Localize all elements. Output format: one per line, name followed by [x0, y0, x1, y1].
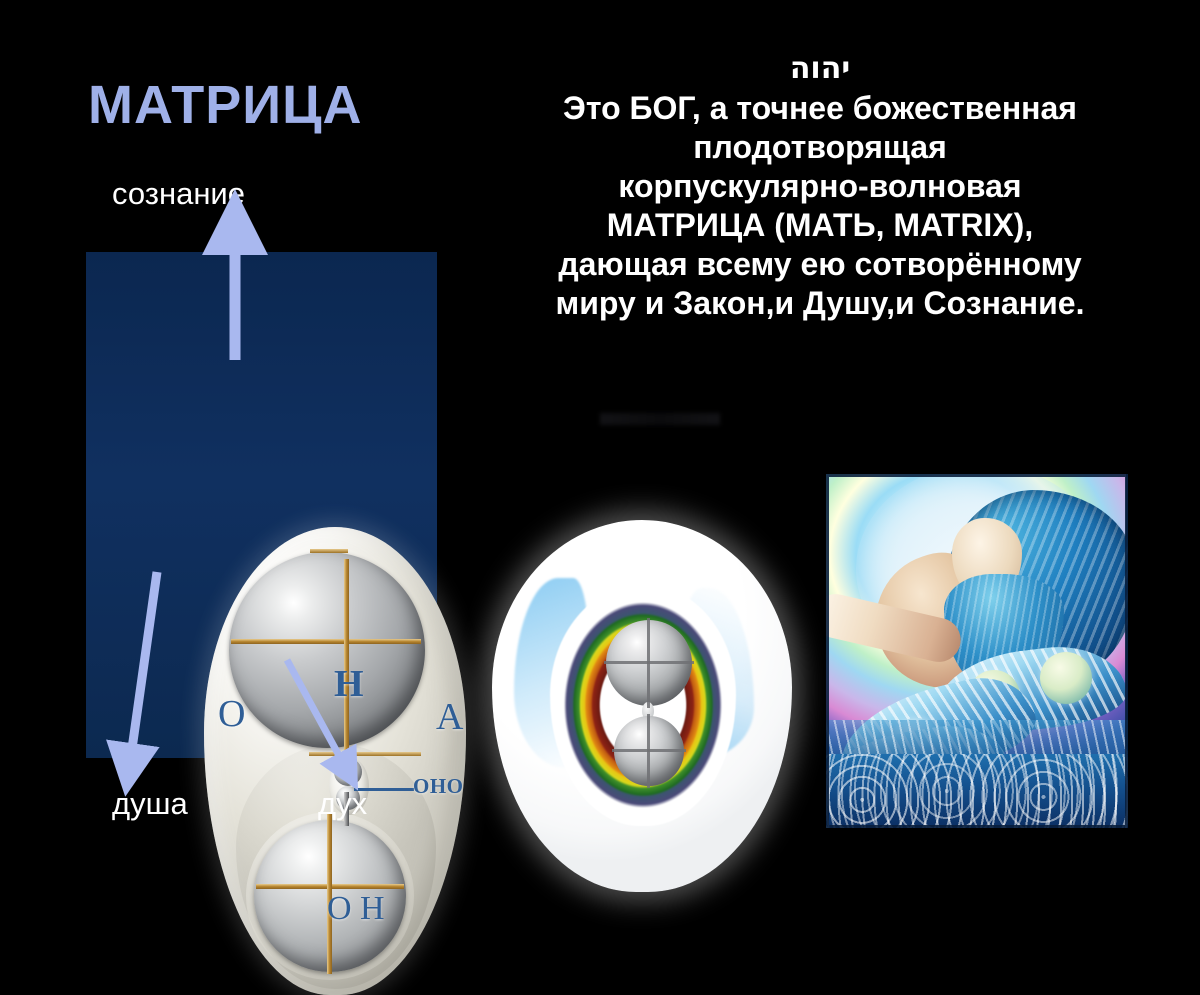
- rainbow-egg-upper-cross-vertical: [647, 618, 650, 708]
- text-line-6: миру и Закон,и Душу,и Сознание.: [470, 284, 1170, 323]
- text-line-5: дающая всему ею сотворённому: [470, 245, 1170, 284]
- deity-painting: [826, 474, 1128, 828]
- upper-cross-vertical: [344, 559, 349, 759]
- left-diagram-panel: О А Н О Н ОНО: [86, 252, 437, 758]
- painting-frame: [826, 474, 1128, 828]
- page-title: МАТРИЦА: [88, 78, 363, 132]
- label-duh: дух: [318, 786, 367, 822]
- upper-cross-horizontal: [231, 639, 421, 644]
- middle-bar: [309, 752, 421, 756]
- slide-canvas: МАТРИЦА сознание О А Н О Н ОНО: [0, 0, 1200, 900]
- text-line-4: МАТРИЦА (МАТЬ, MATRIX),: [470, 206, 1170, 245]
- label-dusha: душа: [112, 786, 188, 822]
- hebrew-tetragrammaton: יהוה: [470, 52, 1170, 85]
- label-soznanie: сознание: [112, 176, 245, 212]
- rainbow-egg-lower-cross-vertical: [647, 714, 650, 788]
- diagram-letter-lower-n: Н: [360, 890, 385, 928]
- scripture-text-block: יהוה Это БОГ, а точнее божественная плод…: [470, 52, 1170, 323]
- diagram-letter-right: А: [436, 695, 463, 739]
- ono-sphere-upper: [334, 758, 362, 786]
- diagram-callout-ono: ОНО: [413, 774, 464, 799]
- text-line-1: Это БОГ, а точнее божественная: [470, 89, 1170, 128]
- text-line-2: плодотворящая: [470, 128, 1170, 167]
- diagram-letter-upper-sphere: Н: [334, 662, 364, 706]
- upper-sphere: [229, 552, 425, 748]
- rainbow-egg-illustration: [492, 520, 792, 892]
- diagram-letter-left: О: [218, 692, 245, 736]
- upper-cross-top-bar: [310, 549, 348, 553]
- text-line-3: корпускулярно-волновая: [470, 167, 1170, 206]
- faded-text-remnant: [600, 413, 720, 425]
- diagram-letter-lower-o: О: [327, 890, 352, 928]
